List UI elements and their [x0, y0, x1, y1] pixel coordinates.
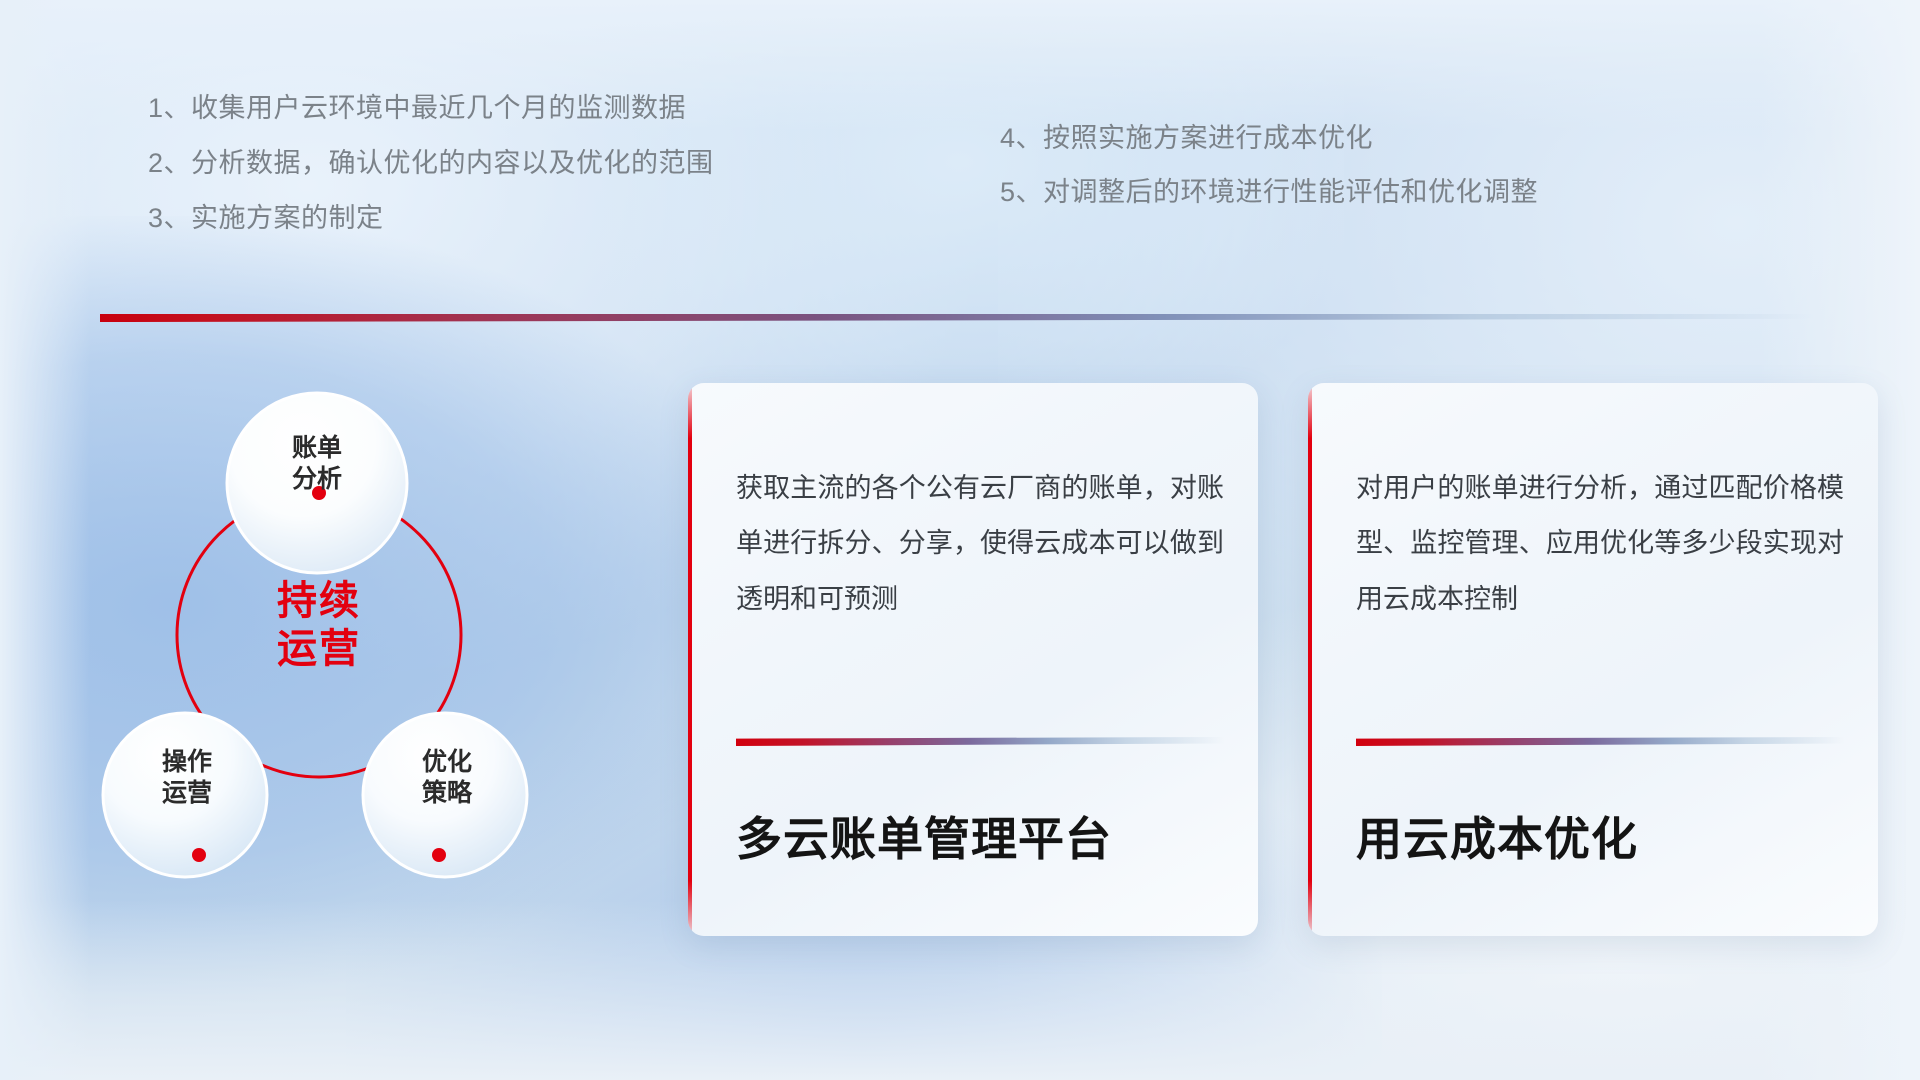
step-item-5: 5、对调整后的环境进行性能评估和优化调整: [1000, 179, 1538, 206]
card-accent-rule: [1356, 737, 1844, 746]
diagram-center-label: 持续 运营: [229, 577, 409, 673]
step-item-4: 4、按照实施方案进行成本优化: [1000, 125, 1538, 152]
steps-right-column: 4、按照实施方案进行成本优化 5、对调整后的环境进行性能评估和优化调整: [1000, 125, 1538, 233]
node-label-operation-ops: 操作 运营: [117, 747, 257, 808]
card-body-text: 对用户的账单进行分析，通过匹配价格模型、监控管理、应用优化等多少段实现对用云成本…: [1356, 461, 1844, 627]
ring-dot-bottom-left: [192, 848, 206, 862]
card-title: 多云账单管理平台: [736, 803, 1228, 869]
node-label-bill-analysis: 账单 分析: [247, 433, 387, 494]
card-multi-cloud-billing[interactable]: 获取主流的各个公有云厂商的账单，对账单进行拆分、分享，使得云成本可以做到透明和可…: [688, 383, 1258, 936]
ring-dot-bottom-right: [432, 848, 446, 862]
section-divider-rule: [100, 314, 1814, 322]
continuous-operation-diagram: 账单 分析 操作 运营 优化 策略 持续 运营: [95, 355, 615, 915]
card-body-text: 获取主流的各个公有云厂商的账单，对账单进行拆分、分享，使得云成本可以做到透明和可…: [736, 461, 1224, 627]
step-item-1: 1、收集用户云环境中最近几个月的监测数据: [148, 95, 714, 122]
step-item-2: 2、分析数据，确认优化的内容以及优化的范围: [148, 150, 714, 177]
node-label-optimization-policy: 优化 策略: [377, 747, 517, 808]
card-cloud-cost-optimization[interactable]: 对用户的账单进行分析，通过匹配价格模型、监控管理、应用优化等多少段实现对用云成本…: [1308, 383, 1878, 936]
card-title: 用云成本优化: [1356, 803, 1848, 869]
step-item-3: 3、实施方案的制定: [148, 205, 714, 232]
card-accent-rule: [736, 737, 1224, 746]
steps-left-column: 1、收集用户云环境中最近几个月的监测数据 2、分析数据，确认优化的内容以及优化的…: [148, 95, 714, 260]
